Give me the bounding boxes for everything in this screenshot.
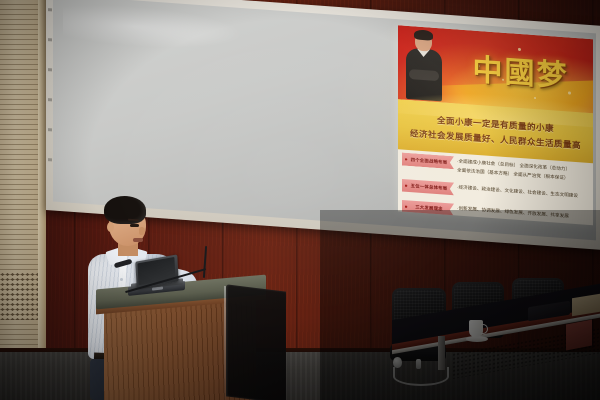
acoustic-perforations [0,272,38,320]
coffee-mug [468,320,486,342]
presentation-scene: 中國梦 全面小康一定是有质量的小康 经济社会发展质量好、人民群众生活质量高 四个… [0,0,600,400]
presenter-hair [104,196,146,224]
presenter-eye [130,224,139,227]
table-leg [438,336,445,370]
projected-slide: 中國梦 全面小康一定是有质量的小康 经济社会发展质量好、人民群众生活质量高 四个… [398,25,593,225]
slide-row-text-line1: ·经济建设、政治建设、文化建设、社会建设、生态文明建设 [457,184,589,202]
microphone-capsule [114,259,133,268]
slide-headline-line2: 经济社会发展质量好、人民群众生活质量高 [410,127,581,151]
microphone-neck [203,246,207,278]
presenter-ear [107,222,114,232]
acoustic-panel-trim [38,0,46,400]
slide-row-text: ·全面建成小康社会（总目标） 全面深化改革（总动力） 全面依法治国（基本方略） … [457,156,589,184]
lectern-glass-panel [226,284,286,400]
slide-row-tag: 五位一体总体布局 [402,179,454,196]
slide-row-text: ·经济建设、政治建设、文化建设、社会建设、生态文明建设 [457,183,589,202]
screen-glare [63,1,243,54]
screen-mount-clips [48,0,52,210]
acoustic-wall-panel [0,0,38,400]
name-placard [566,322,592,348]
acoustic-grooves [0,0,38,400]
slide-row-tag: 四个全面战略布局 [402,153,454,170]
microphone [108,234,218,286]
